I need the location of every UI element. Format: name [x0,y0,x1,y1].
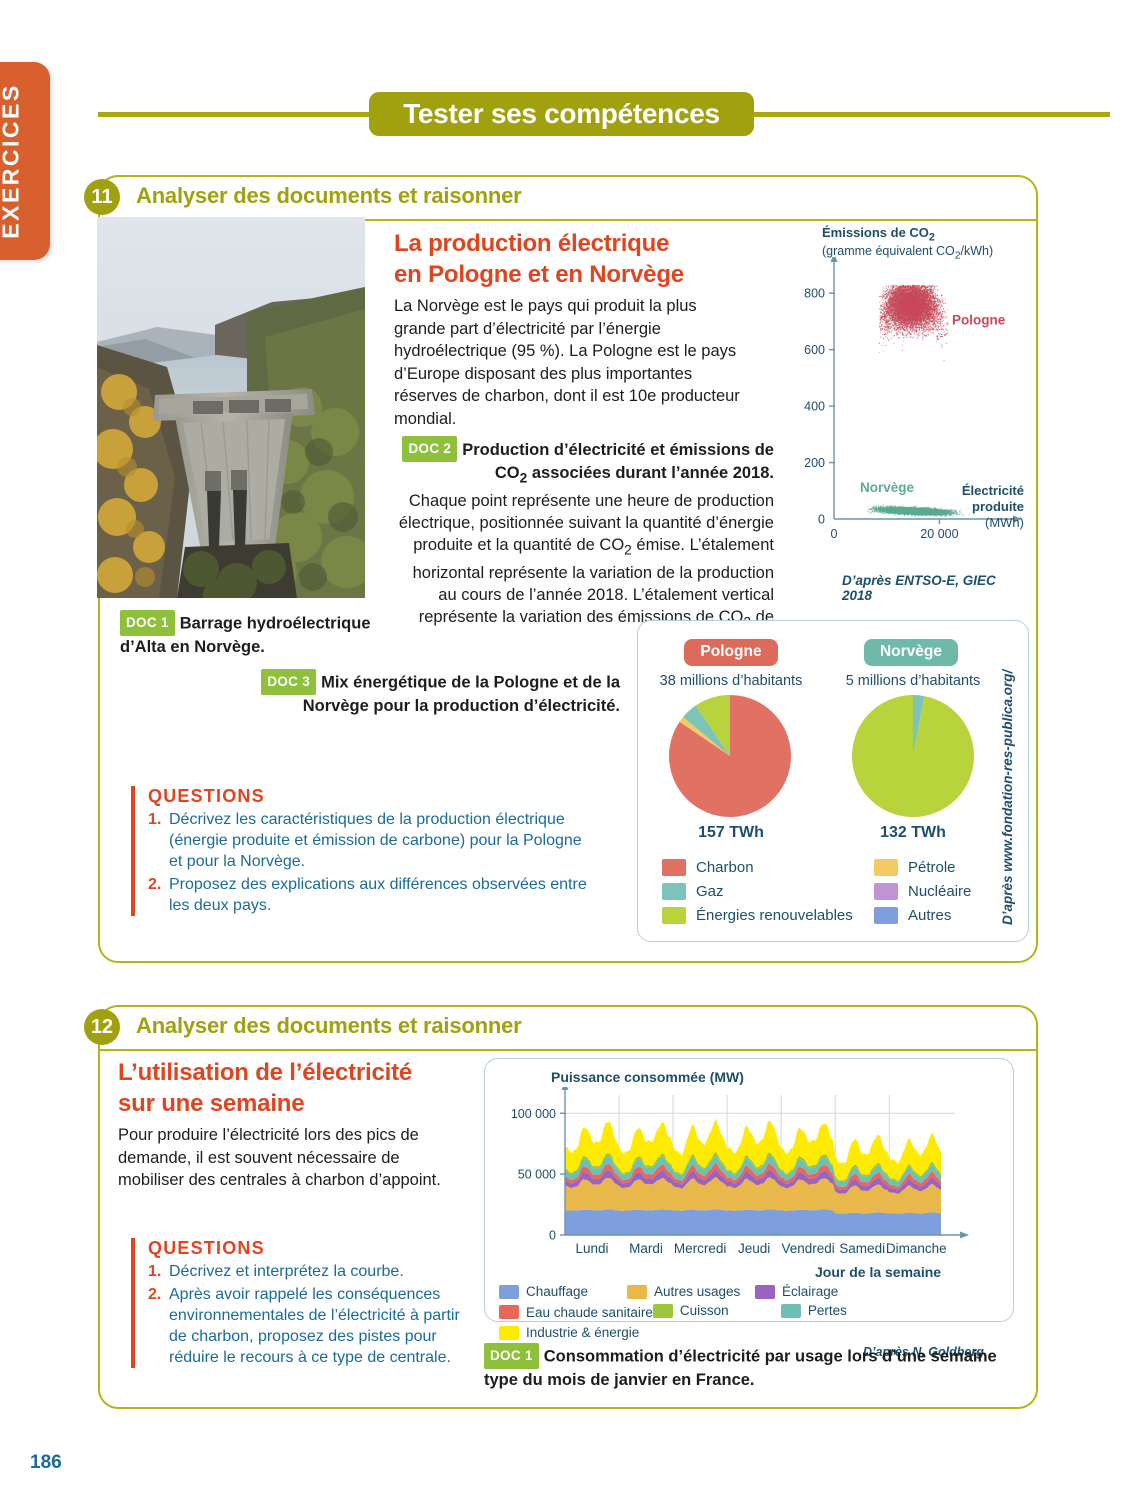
legend-label: Gaz [696,883,724,900]
scatter-xlabel: Électricité produite (MWh) [932,483,1024,531]
legend-item: Chauffage [499,1284,627,1299]
doc2-title: Production d’électricité et émissions de… [462,441,774,483]
pologne-pill-wrap: Pologne [676,639,786,666]
pologne-pill: Pologne [684,639,777,666]
doc1-dam-photo [97,217,365,598]
legend-label: Autres [908,907,951,924]
dam-photo-illustration [97,217,365,598]
doc1-ex12-caption: DOC 1Consommation d’électricité par usag… [484,1343,1004,1391]
swatch-pertes [781,1304,801,1318]
pie-legend-left: Charbon Gaz Énergies renouvelables [662,859,882,931]
legend-item: Pétrole [874,859,1014,876]
page-title: Tester ses compétences [369,92,754,136]
questions-title-12: QUESTIONS [148,1238,478,1259]
legend-item: Eau chaude sanitaire [499,1303,653,1321]
swatch-autres-usages [627,1285,647,1299]
swatch-gaz [662,883,686,900]
page-banner: Tester ses compétences [98,92,1110,138]
legend-label: Industrie & énergie [526,1325,639,1340]
legend-item: Autres usages [627,1284,755,1299]
legend-item: Éclairage [755,1284,875,1299]
legend-label: Cuisson [680,1303,729,1318]
area-plot: 050 000100 000LundiMardiMercrediJeudiVen… [493,1087,1001,1267]
svg-text:0: 0 [818,513,825,527]
legend-label: Autres usages [654,1284,740,1299]
headline-12-line-2: sur une semaine [118,1088,478,1119]
area-legend: Chauffage Autres usages Éclairage Eau ch… [499,1284,1004,1347]
legend-label: Eau chaude sanitaire [526,1305,653,1320]
headline-12-line-1: L’utilisation de l’électricité [118,1057,478,1088]
swatch-petrole [874,859,898,876]
svg-text:200: 200 [804,456,825,470]
questions-title-11: QUESTIONS [148,786,598,807]
norvege-pie [850,693,976,819]
exercise-12-headline: L’utilisation de l’électricité sur une s… [118,1057,478,1119]
swatch-eclairage [755,1285,775,1299]
xlabel-l2: produite [932,499,1024,515]
xlabel-l1: Électricité [932,483,1024,499]
banner-pill: Tester ses compétences [369,92,754,136]
legend-item: Autres [874,907,1014,924]
question-number: 2. [148,874,169,916]
norvege-pill: Norvège [864,639,958,666]
scatter-ylabel: Émissions de CO2 (gramme équivalent CO2/… [822,225,1027,261]
pologne-total: 157 TWh [646,824,816,842]
question-text: Après avoir rappelé les conséquences env… [169,1284,478,1368]
doc3-caption-text: Mix énergétique de la Pologne et de la N… [303,674,620,716]
xlabel-l3: (MWh) [932,515,1024,531]
doc1-ex12-caption-text: Consommation d’électricité par usage lor… [484,1348,997,1390]
question-item: 2. Après avoir rappelé les conséquences … [148,1284,478,1368]
exercise-12-questions: QUESTIONS 1. Décrivez et interprétez la … [131,1238,478,1368]
question-number: 1. [148,1261,169,1282]
question-item: 2. Proposez des explications aux différe… [148,874,598,916]
legend-item: Gaz [662,883,882,900]
swatch-chauffage [499,1285,519,1299]
norvege-population: 5 millions d’habitants [828,673,998,689]
question-item: 1. Décrivez et interprétez la courbe. [148,1261,478,1282]
svg-text:600: 600 [804,343,825,357]
question-item: 1. Décrivez les caractéristiques de la p… [148,809,598,872]
swatch-charbon [662,859,686,876]
scatter-source: D’après ENTSO-E, GIEC 2018 [842,573,1025,603]
legend-label: Nucléaire [908,883,971,900]
question-text: Décrivez et interprétez la courbe. [169,1261,478,1282]
legend-item: Nucléaire [874,883,1014,900]
area-xlabel: Jour de la semaine [815,1264,941,1280]
swatch-industrie [499,1326,519,1340]
doc1-area-card: Puissance consommée (MW) 050 000100 000L… [484,1058,1014,1322]
exercise-11-number: 11 [84,179,120,215]
exercise-11-title: Analyser des documents et raisonner [136,183,521,209]
pologne-population: 38 millions d’habitants [646,673,816,689]
exercise-12-title: Analyser des documents et raisonner [136,1013,521,1039]
legend-label: Pétrole [908,859,956,876]
swatch-renouvelables [662,907,686,924]
page-number: 186 [30,1452,62,1474]
doc3-badge: DOC 3 [261,669,316,695]
area-ylabel: Puissance consommée (MW) [551,1069,744,1085]
doc1-ex12-badge: DOC 1 [484,1343,539,1369]
legend-label: Charbon [696,859,754,876]
pologne-pie [667,693,793,819]
headline-line-1: La production électrique [394,228,774,259]
scatter-chart-doc2: Émissions de CO2 (gramme équivalent CO2/… [800,225,1025,595]
svg-text:800: 800 [804,287,825,301]
svg-text:400: 400 [804,400,825,414]
headline-line-2: en Pologne et en Norvège [394,259,774,290]
legend-label: Pertes [808,1303,847,1318]
doc1-caption: DOC 1Barrage hydroélectrique d’Alta en N… [120,610,420,658]
exercise-12-header: 12 Analyser des documents et raisonner [100,1007,1036,1051]
norvege-pill-wrap: Norvège [856,639,966,666]
question-number: 2. [148,1284,169,1368]
legend-item: Industrie & énergie [499,1325,699,1340]
exercise-11-questions: QUESTIONS 1. Décrivez les caractéristiqu… [131,786,598,916]
doc1-badge: DOC 1 [120,610,175,636]
legend-item: Cuisson [653,1303,781,1318]
legend-label: Chauffage [526,1284,588,1299]
question-text: Décrivez les caractéristiques de la prod… [169,809,598,872]
legend-item: Charbon [662,859,882,876]
pie-source: D’après www.fondation-res-publica.org/ [1000,670,1015,925]
swatch-cuisson [653,1304,673,1318]
exercices-tab-label: EXERCICES [0,83,25,238]
doc3-pie-card: Pologne 38 millions d’habitants 157 TWh … [637,620,1029,942]
legend-label: Éclairage [782,1284,838,1299]
exercise-12-intro: Pour produire l’électricité lors des pic… [118,1124,458,1192]
legend-label: Énergies renouvelables [696,907,853,924]
doc3-caption: DOC 3Mix énergétique de la Pologne et de… [250,669,620,717]
exercise-11-headline: La production électrique en Pologne et e… [394,228,774,290]
exercices-side-tab: EXERCICES [0,62,50,260]
swatch-nucleaire [874,883,898,900]
exercise-12-number: 12 [84,1009,120,1045]
doc2-badge: DOC 2 [402,436,457,462]
norvege-total: 132 TWh [828,824,998,842]
question-text: Proposez des explications aux différence… [169,874,598,916]
scatter-plot-area: 0200400600800020 000PologneNorvège [800,257,1025,597]
legend-item: Pertes [781,1303,909,1318]
question-number: 1. [148,809,169,872]
exercise-11-header: 11 Analyser des documents et raisonner [100,177,1036,221]
exercise-11-intro: La Norvège est le pays qui produit la pl… [394,295,750,430]
swatch-eau-chaude [499,1305,519,1319]
pie-legend-right: Pétrole Nucléaire Autres [874,859,1014,931]
swatch-autres [874,907,898,924]
legend-item: Énergies renouvelables [662,907,882,924]
svg-text:0: 0 [831,527,838,541]
